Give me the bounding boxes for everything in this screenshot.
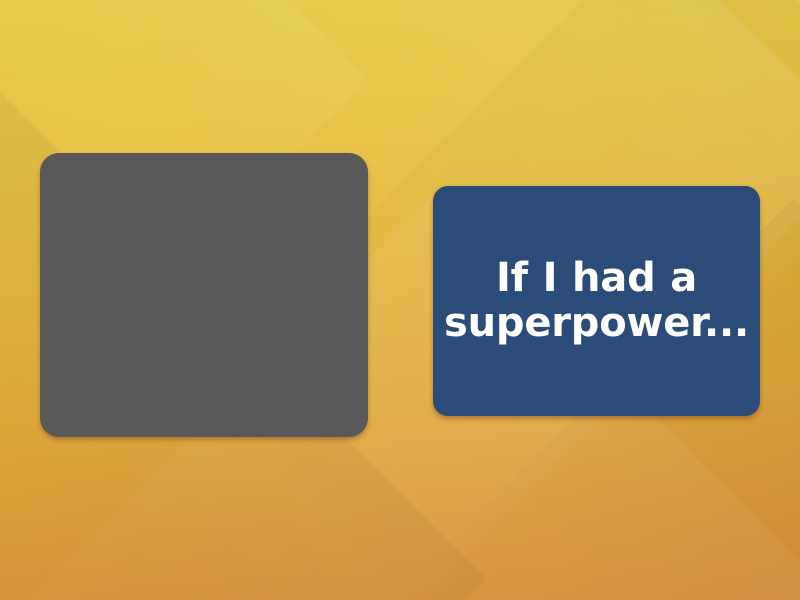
hidden-card[interactable] bbox=[40, 153, 368, 437]
prompt-card-text: If I had a superpower... bbox=[444, 256, 749, 346]
prompt-card[interactable]: If I had a superpower... bbox=[433, 186, 760, 416]
game-stage: If I had a superpower... bbox=[0, 0, 800, 600]
